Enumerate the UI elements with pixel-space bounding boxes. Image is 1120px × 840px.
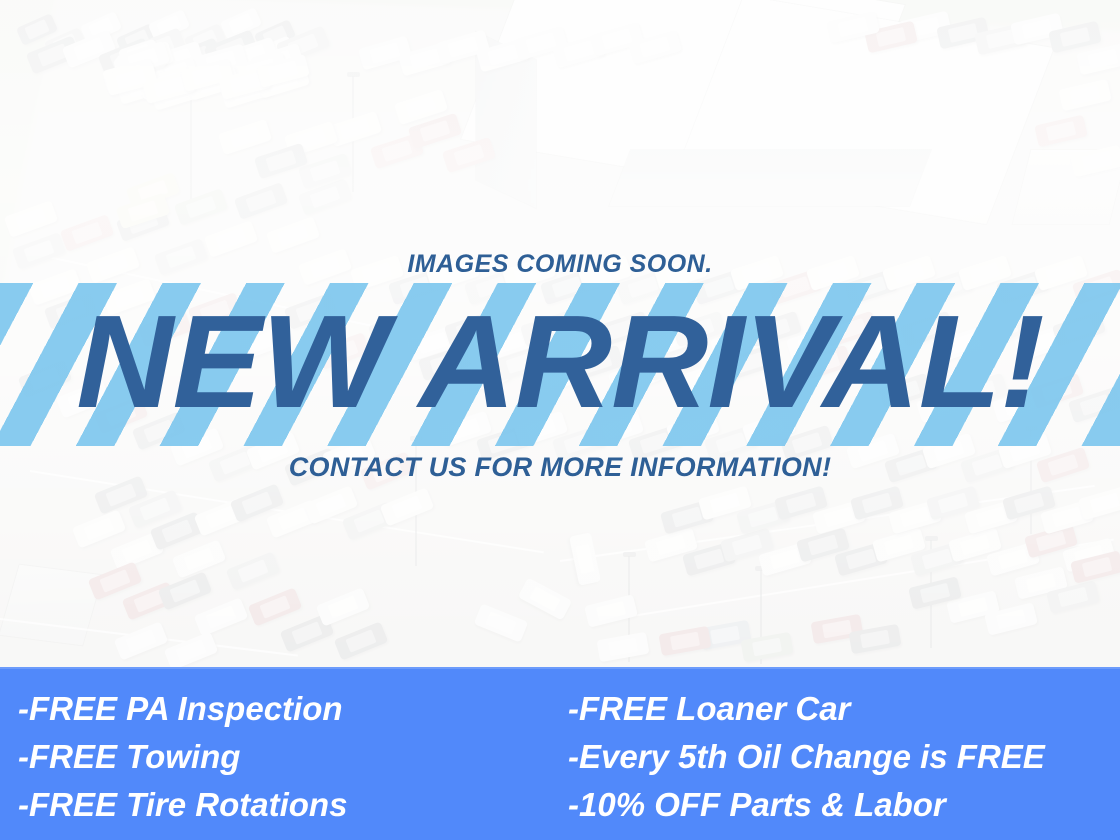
offer-item: -Every 5th Oil Change is FREE <box>568 733 1120 781</box>
parked-car <box>596 632 649 662</box>
parked-car <box>164 631 219 670</box>
parked-car <box>1076 43 1120 76</box>
light-pole <box>190 96 192 208</box>
offer-item: -FREE Loaner Car <box>568 685 1120 733</box>
parked-car <box>4 200 59 238</box>
parked-car <box>474 603 529 642</box>
parked-car <box>380 487 435 526</box>
parked-car <box>1058 79 1112 112</box>
new-arrival-headline: NEW ARRIVAL! <box>0 287 1120 437</box>
parked-car <box>266 216 321 254</box>
images-coming-soon-text: IMAGES COMING SOON. <box>0 250 1120 279</box>
parked-car <box>226 551 281 590</box>
offers-left-column: -FREE PA Inspection -FREE Towing -FREE T… <box>0 685 560 829</box>
offer-item: -FREE Tire Rotations <box>18 781 560 829</box>
offers-right-column: -FREE Loaner Car -Every 5th Oil Change i… <box>560 685 1120 829</box>
offer-item: -10% OFF Parts & Labor <box>568 781 1120 829</box>
contact-us-text: CONTACT US FOR MORE INFORMATION! <box>0 452 1120 483</box>
parked-car <box>1034 115 1088 148</box>
dealership-building-front-wall <box>609 150 930 206</box>
parked-car <box>1078 486 1120 521</box>
parked-car <box>248 587 303 626</box>
parked-car <box>316 587 371 626</box>
parked-car <box>658 626 711 656</box>
parked-car <box>234 182 289 220</box>
parked-car <box>72 509 127 548</box>
parked-car <box>174 188 229 226</box>
parked-car <box>158 571 213 610</box>
offer-item: -FREE PA Inspection <box>18 685 560 733</box>
offer-item: -FREE Towing <box>18 733 560 781</box>
image-coming-soon-placeholder: IMAGES COMING SOON. NEW ARRIVAL! CONTACT… <box>0 0 1120 840</box>
parked-car <box>334 621 389 660</box>
parked-car <box>114 621 169 660</box>
service-offers-banner: -FREE PA Inspection -FREE Towing -FREE T… <box>0 667 1120 840</box>
parked-car <box>569 532 601 585</box>
outbuilding <box>0 565 103 646</box>
parked-car <box>194 597 249 636</box>
parked-car <box>518 578 572 621</box>
parked-car <box>60 214 115 252</box>
parked-car <box>218 119 272 155</box>
